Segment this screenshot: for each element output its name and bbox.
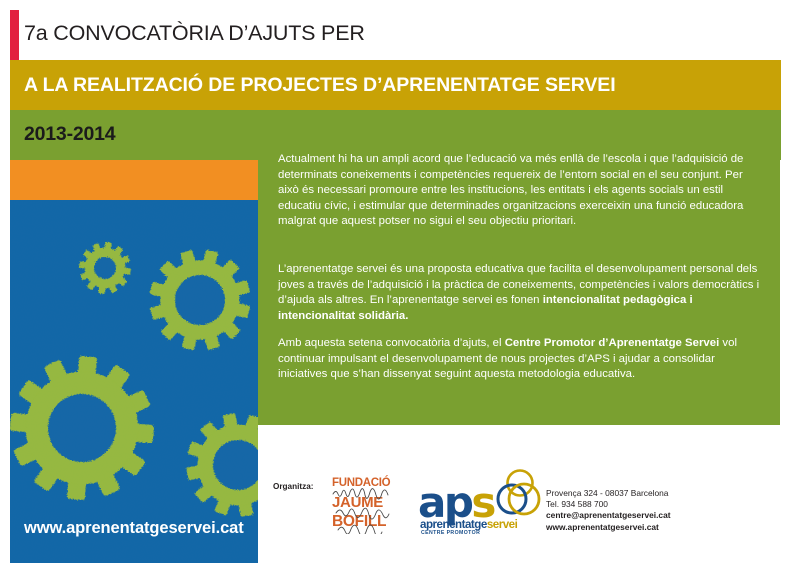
website-strip: www.aprenentatgeservei.cat (10, 513, 258, 543)
headline-secondary: A LA REALITZACIÓ DE PROJECTES D’APRENENT… (24, 74, 616, 97)
aps-logo[interactable]: aps aprenentatgeservei CENTRE PROMOTOR (418, 466, 543, 538)
left-white-notch (0, 200, 10, 563)
organizer-label: Organitza: (273, 482, 314, 491)
contact-address: Provença 324 - 08037 Barcelona (546, 488, 671, 499)
body-text-panel: Actualment hi ha un ampli acord que l’ed… (258, 140, 780, 425)
contact-email[interactable]: centre@aprenentatgeservei.cat (546, 510, 671, 521)
body-paragraph-3-pre: Amb aquesta setena convocatòria d’ajuts,… (278, 337, 505, 349)
contact-phone: Tel. 934 588 700 (546, 499, 671, 510)
body-paragraph-1: Actualment hi ha un ampli acord que l’ed… (278, 152, 766, 230)
contact-web[interactable]: www.aprenentatgeservei.cat (546, 522, 671, 533)
aps-tagline-gold: servei (487, 518, 518, 531)
footer: Organitza: FUNDACIÓ JAUME BOFILL aps (258, 430, 793, 563)
contact-block: Provença 324 - 08037 Barcelona Tel. 934 … (546, 488, 671, 533)
poster-root: 7a CONVOCATÒRIA D’AJUTS PER A LA REALITZ… (0, 0, 793, 563)
aps-rings-icon (490, 469, 542, 519)
aps-subtitle: CENTRE PROMOTOR (421, 530, 480, 536)
body-paragraph-3-emphasis: Centre Promotor d’Aprenentatge Servei (505, 337, 720, 349)
headline-years: 2013-2014 (24, 123, 115, 146)
body-paragraph-2: L’aprenentatge servei és una proposta ed… (278, 262, 766, 324)
fundacio-jaume-bofill-logo[interactable]: FUNDACIÓ JAUME BOFILL (328, 478, 406, 534)
fjb-handwriting-icon (328, 478, 406, 534)
website-url[interactable]: www.aprenentatgeservei.cat (10, 519, 244, 538)
body-paragraph-3: Amb aquesta setena convocatòria d’ajuts,… (278, 336, 766, 383)
gears-illustration (10, 200, 258, 563)
gears-image-panel (10, 200, 258, 563)
accent-band-orange (10, 160, 258, 200)
accent-bar-red (10, 10, 19, 60)
headline-primary: 7a CONVOCATÒRIA D’AJUTS PER (24, 21, 365, 46)
